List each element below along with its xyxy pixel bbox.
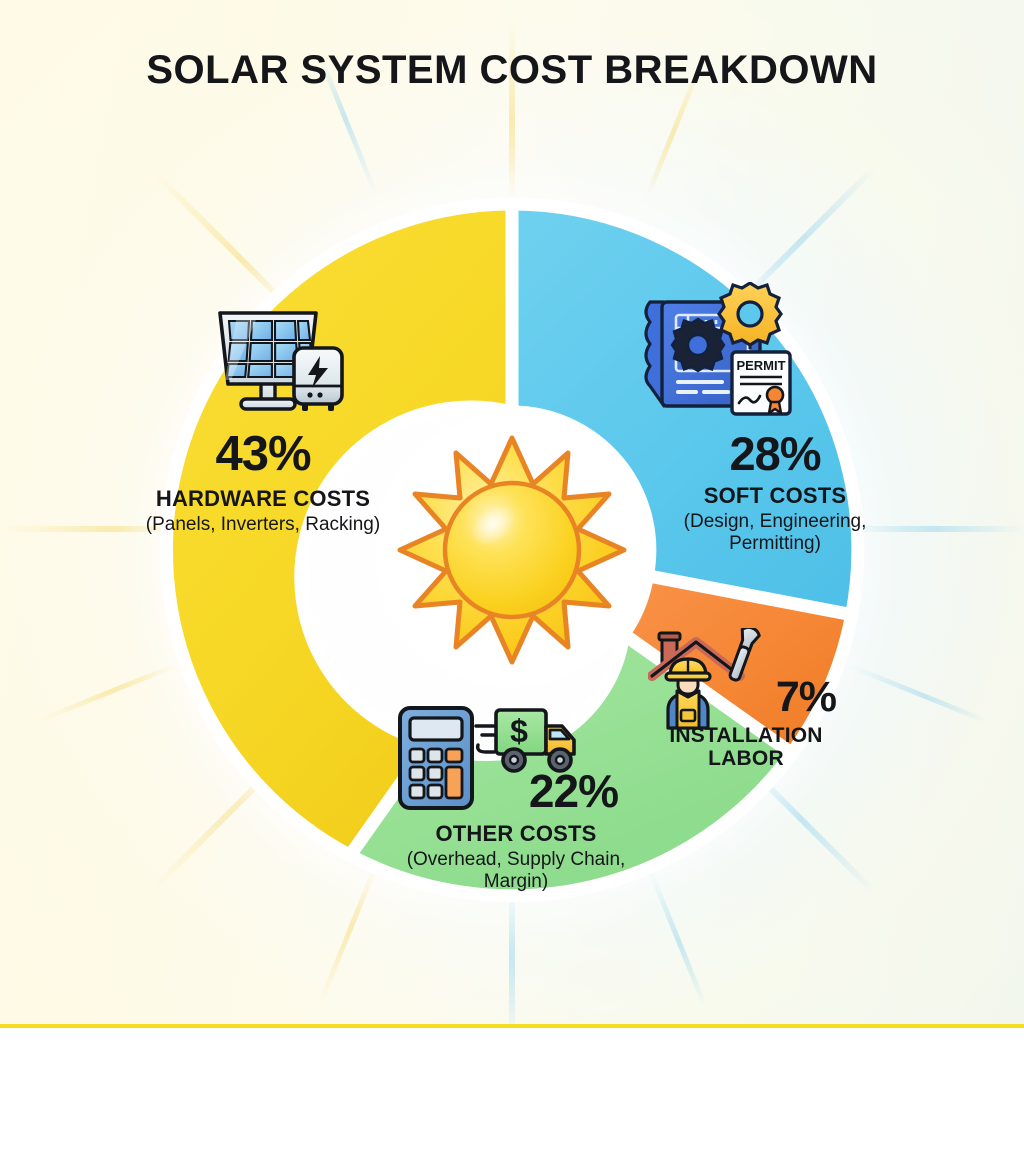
slice-detail-soft: (Design, Engineering, Permitting) <box>636 511 914 556</box>
permit-label: PERMIT <box>736 358 785 373</box>
calculator-icon <box>394 700 480 816</box>
svg-text:$: $ <box>510 713 528 749</box>
blueprint-permit-gears-icon: PERMIT <box>636 282 796 422</box>
installer-worker-roof-wrench-icon <box>648 628 770 732</box>
slice-detail-other: (Overhead, Supply Chain, Margin) <box>400 849 632 894</box>
slice-percent-soft: 28% <box>636 430 914 477</box>
solar-panel-inverter-icon <box>198 296 348 420</box>
infographic-page: SOLAR SYSTEM COST BREAKDOWN <box>0 0 1024 1154</box>
slice-label-soft: 28% SOFT COSTS (Design, Engineering, Per… <box>636 430 914 556</box>
slice-label-hardware: 43% HARDWARE COSTS (Panels, Inverters, R… <box>132 430 394 536</box>
page-title: SOLAR SYSTEM COST BREAKDOWN <box>0 48 1024 93</box>
slice-name-other: OTHER COSTS <box>400 822 632 846</box>
delivery-truck-dollar-icon: $ <box>474 702 580 780</box>
slice-percent-hardware: 43% <box>132 430 394 479</box>
slice-name-soft: SOFT COSTS <box>636 484 914 508</box>
footer: Your Home Solar yourhomesolar.com <box>0 1028 1024 1154</box>
slice-name-hardware: HARDWARE COSTS <box>132 487 394 511</box>
slice-detail-hardware: (Panels, Inverters, Racking) <box>132 514 394 536</box>
